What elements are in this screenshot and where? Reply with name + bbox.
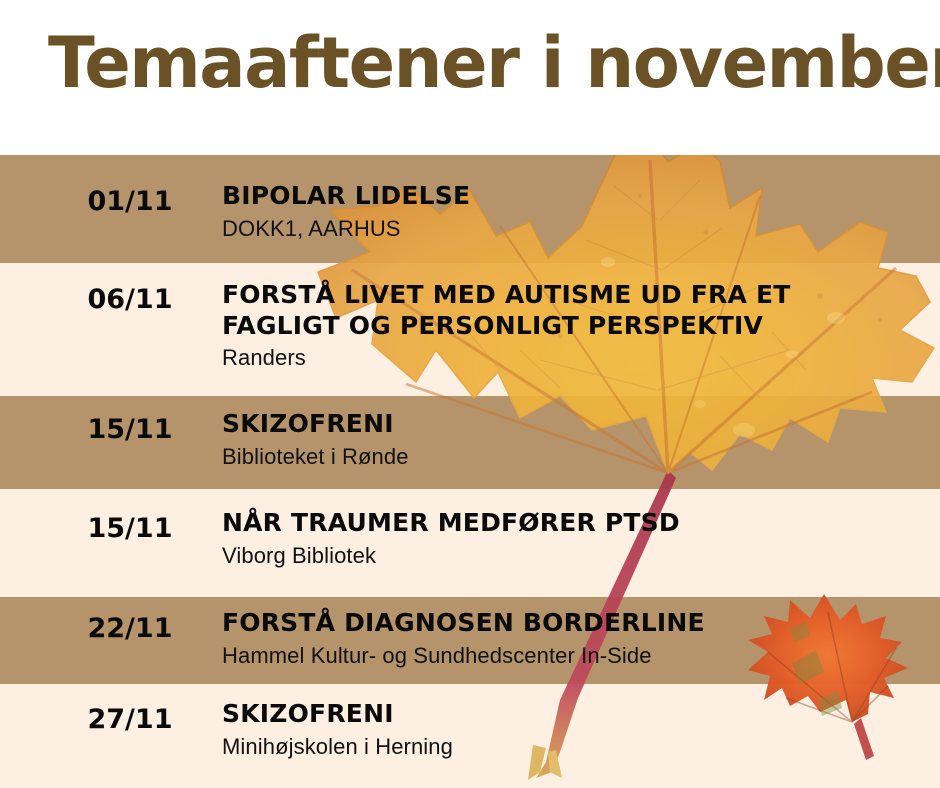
event-date: 27/11 (55, 704, 205, 735)
table-row: 15/11 NÅR TRAUMER MEDFØRER PTSD Viborg B… (0, 489, 940, 597)
event-title: SKIZOFRENI (222, 699, 922, 730)
event-title: FORSTÅ DIAGNOSEN BORDERLINE (222, 608, 922, 639)
event-body: NÅR TRAUMER MEDFØRER PTSD Viborg Bibliot… (222, 508, 922, 569)
table-row: 06/11 FORSTÅ LIVET MED AUTISME UD FRA ET… (0, 263, 940, 396)
event-body: SKIZOFRENI Minihøjskolen i Herning (222, 699, 922, 760)
poster-canvas: Temaaftener i november 01/11 BIPOLAR LID… (0, 0, 940, 788)
event-title: NÅR TRAUMER MEDFØRER PTSD (222, 508, 922, 539)
poster-header: Temaaftener i november (0, 0, 940, 155)
event-date: 15/11 (55, 414, 205, 445)
table-row: 22/11 FORSTÅ DIAGNOSEN BORDERLINE Hammel… (0, 597, 940, 684)
page-title: Temaaftener i november (48, 28, 891, 98)
event-venue: Minihøjskolen i Herning (222, 734, 922, 760)
event-venue: DOKK1, AARHUS (222, 216, 922, 242)
event-date: 06/11 (55, 284, 205, 315)
event-date: 22/11 (55, 613, 205, 644)
event-body: SKIZOFRENI Biblioteket i Rønde (222, 409, 922, 470)
event-body: FORSTÅ LIVET MED AUTISME UD FRA ET FAGLI… (222, 280, 922, 371)
event-body: BIPOLAR LIDELSE DOKK1, AARHUS (222, 181, 922, 242)
event-date: 01/11 (55, 186, 205, 217)
event-title: FORSTÅ LIVET MED AUTISME UD FRA ET FAGLI… (222, 280, 882, 341)
event-venue: Randers (222, 345, 922, 371)
table-row: 27/11 SKIZOFRENI Minihøjskolen i Herning (0, 684, 940, 788)
event-venue: Hammel Kultur- og Sundhedscenter In-Side (222, 643, 922, 669)
event-title: SKIZOFRENI (222, 409, 922, 440)
event-venue: Viborg Bibliotek (222, 543, 922, 569)
event-body: FORSTÅ DIAGNOSEN BORDERLINE Hammel Kultu… (222, 608, 922, 669)
event-venue: Biblioteket i Rønde (222, 444, 922, 470)
table-row: 01/11 BIPOLAR LIDELSE DOKK1, AARHUS (0, 155, 940, 263)
event-date: 15/11 (55, 513, 205, 544)
table-row: 15/11 SKIZOFRENI Biblioteket i Rønde (0, 396, 940, 489)
event-title: BIPOLAR LIDELSE (222, 181, 922, 212)
